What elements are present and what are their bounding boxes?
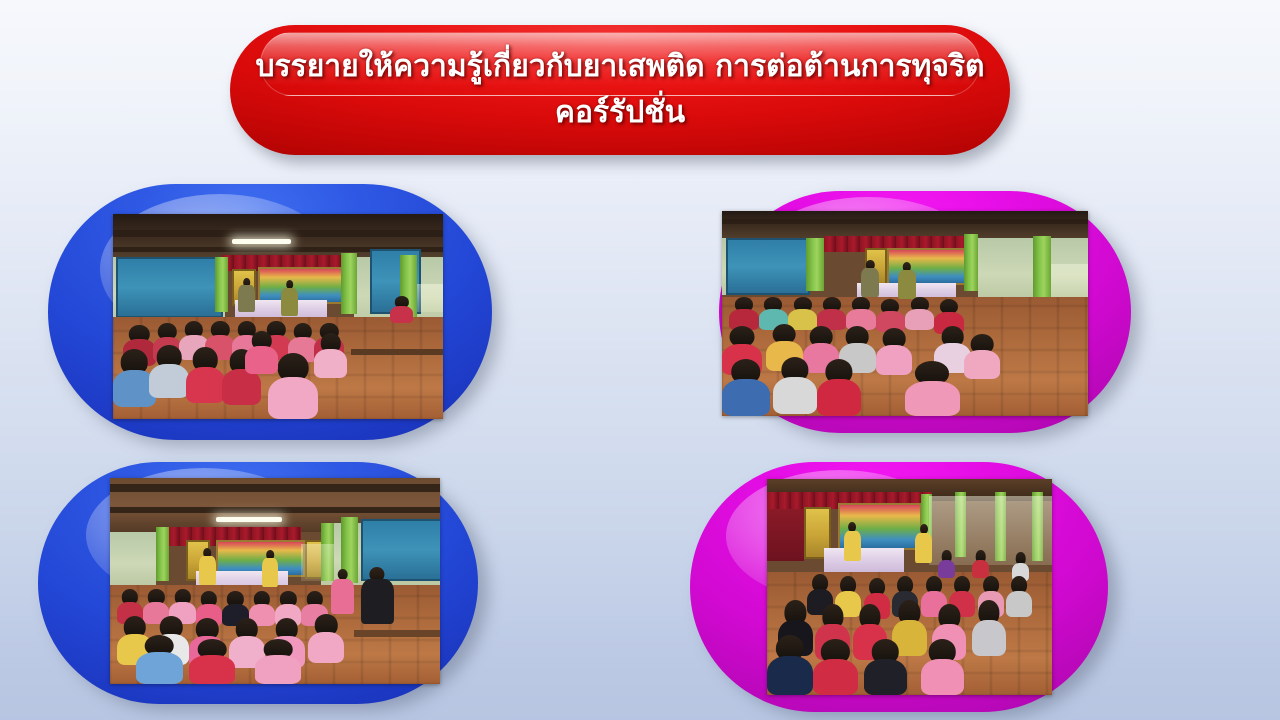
photo-bottom-left[interactable] (110, 478, 440, 684)
photo-top-left[interactable] (113, 214, 443, 419)
title-line-1: บรรยายให้ความรู้เกี่ยวกับยาเสพติด การต่อ… (255, 44, 984, 90)
photo-bottom-right[interactable] (767, 479, 1052, 695)
photo-bottom-right-scene (767, 479, 1052, 695)
photo-top-right-scene (722, 211, 1088, 416)
photo-top-left-scene (113, 214, 443, 419)
title-banner-text: บรรยายให้ความรู้เกี่ยวกับยาเสพติด การต่อ… (230, 25, 1010, 155)
photo-bottom-left-scene (110, 478, 440, 684)
title-line-2: คอร์รัปชั่น (555, 90, 685, 136)
title-banner: บรรยายให้ความรู้เกี่ยวกับยาเสพติด การต่อ… (230, 25, 1010, 155)
photo-top-right[interactable] (722, 211, 1088, 416)
